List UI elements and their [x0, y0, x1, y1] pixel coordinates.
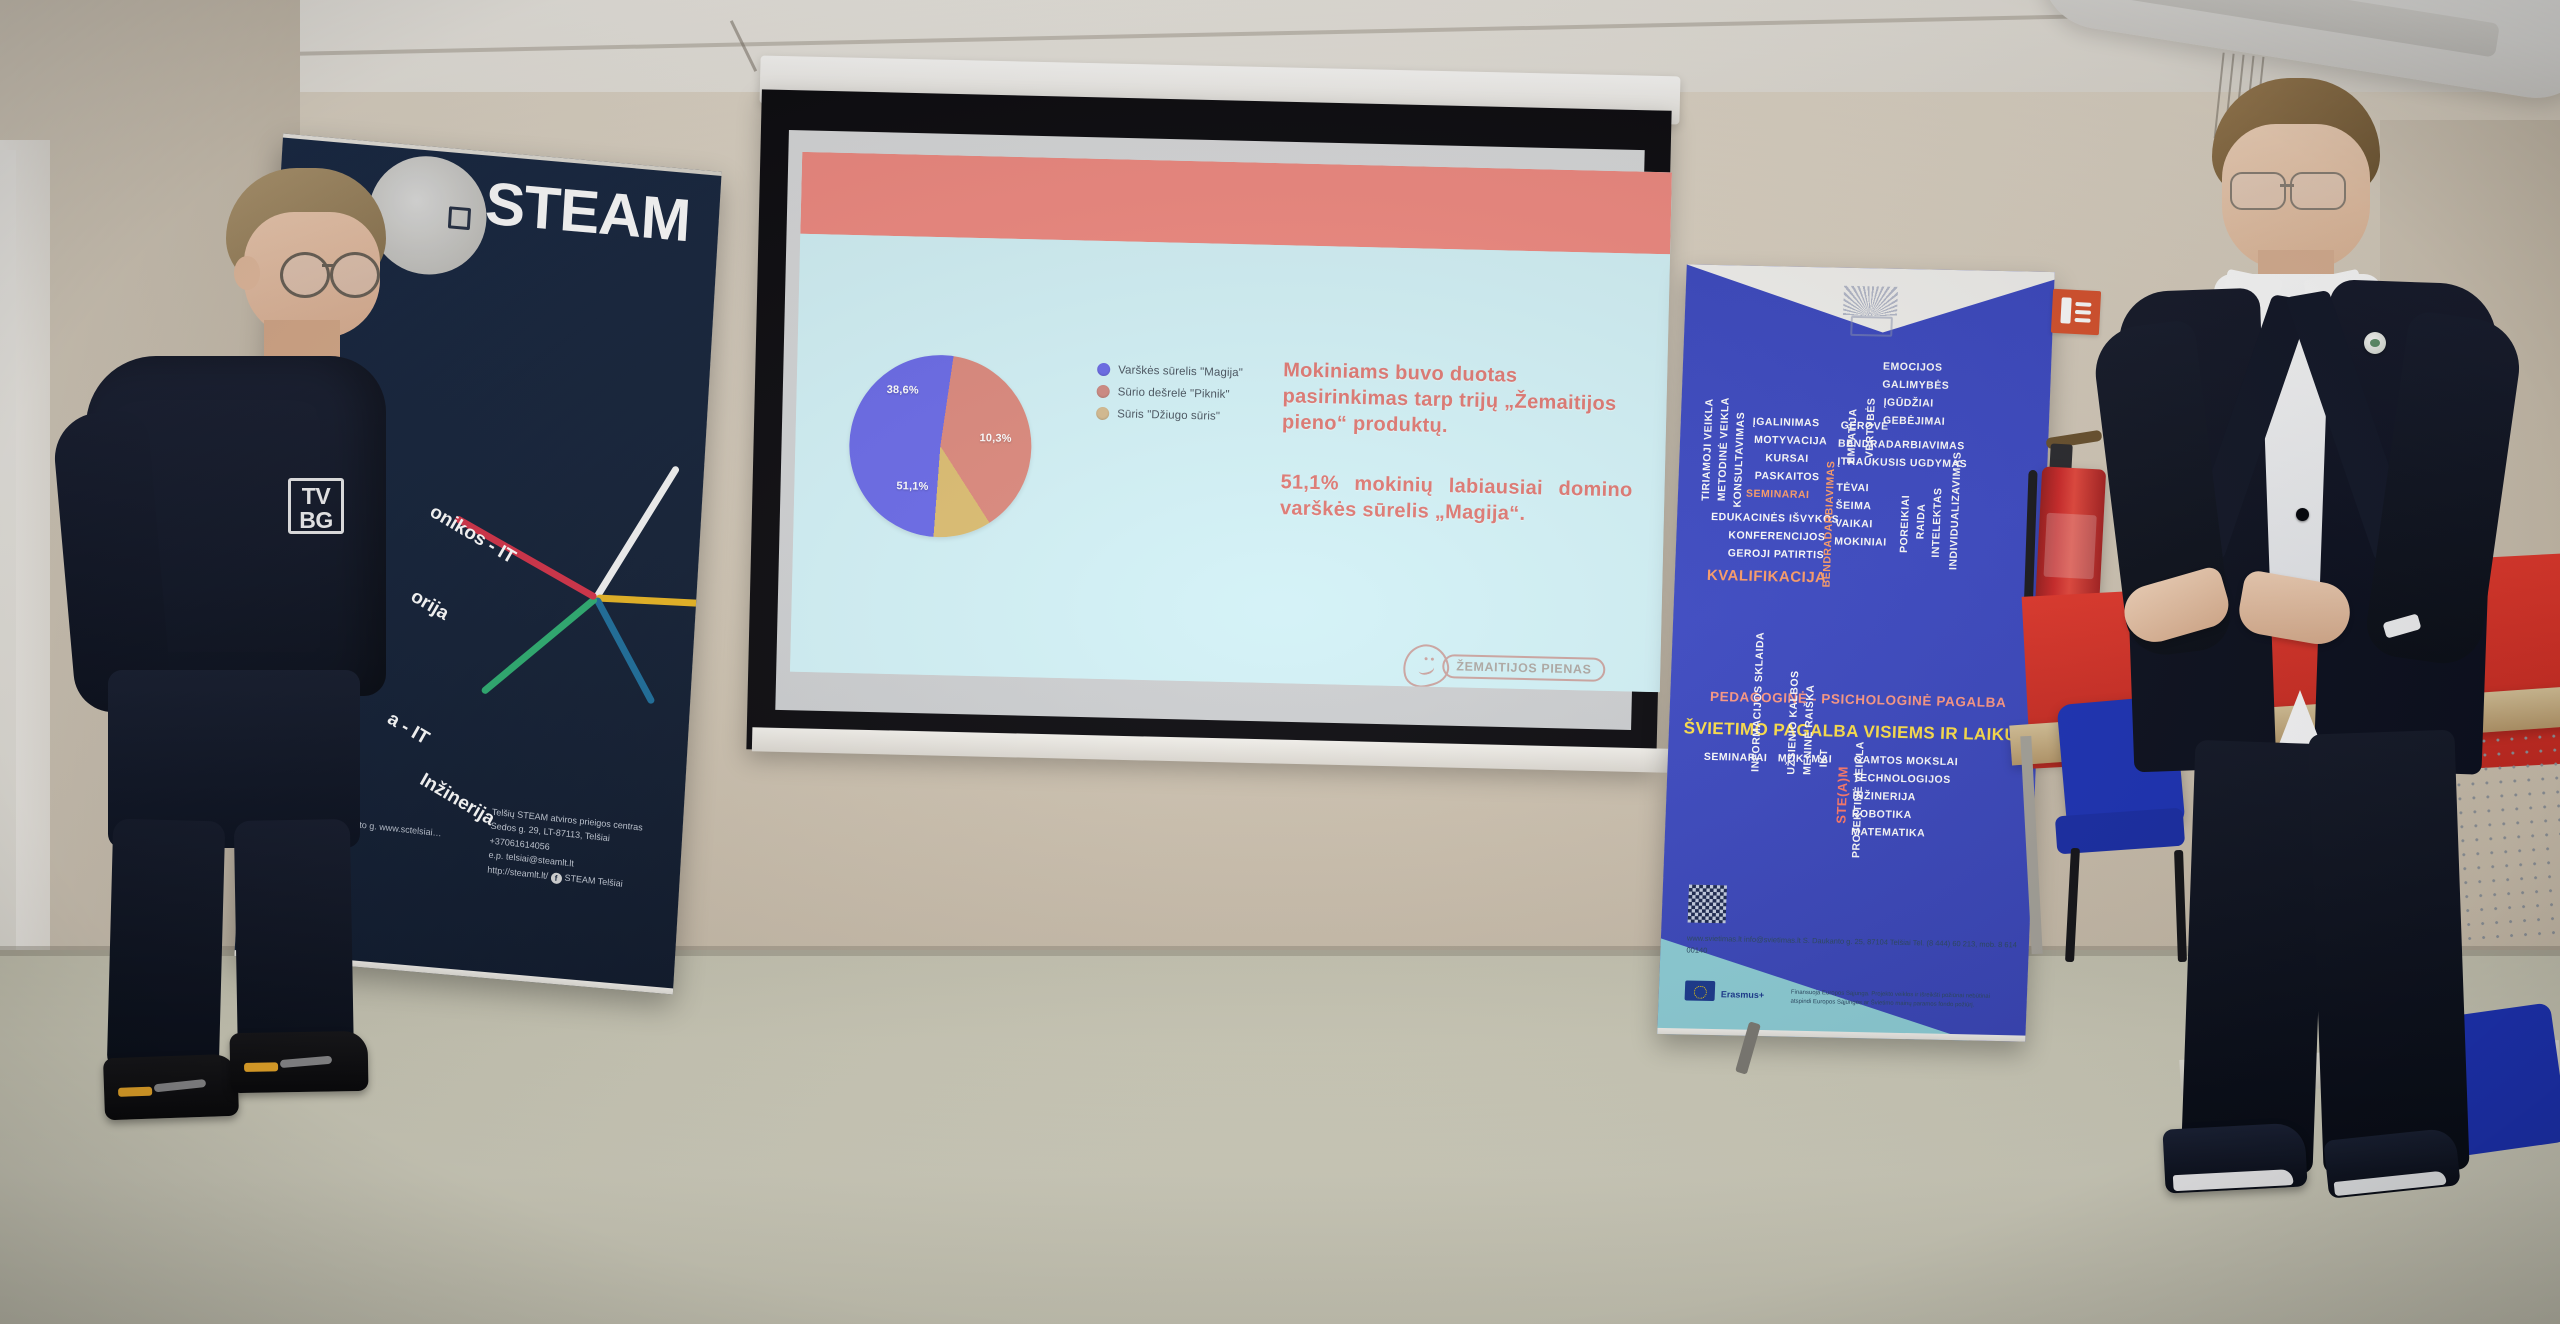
qr-code-icon[interactable]	[1688, 885, 1727, 924]
pie-label-piknik: 38,6%	[887, 384, 919, 397]
wc-tevai: TĖVAI	[1836, 482, 1869, 495]
wc-intelektas: INTELEKTAS	[1930, 487, 1945, 557]
wc-gamtos: GAMTOS MOKSLAI	[1854, 754, 1959, 768]
legend-swatch-dziugo	[1096, 407, 1109, 420]
wc-seminarai-top: SEMINARAI	[1746, 488, 1810, 501]
svietimo-pagalba-banner: TIRIAMOJI VEIKLA METODINĖ VEIKLA KONSULT…	[1657, 264, 2055, 1041]
spoke-blue	[593, 596, 656, 705]
wc-steam: STE(A)M	[1833, 766, 1850, 824]
right-trouser-leg	[2308, 730, 2469, 1175]
pie-label-magija: 51,1%	[896, 480, 928, 493]
legend-label-magija: Varškės sūrelis "Magija"	[1118, 364, 1243, 379]
facebook-icon: f	[550, 872, 562, 884]
banner-right-subline: PEDAGOGINĖ - PSICHOLOGINĖ PAGALBA	[1686, 688, 2031, 710]
zemaitijos-pienas-wordmark: ŽEMAITIJOS PIENAS	[1442, 654, 1606, 682]
wc-vaikai: VAIKAI	[1835, 518, 1873, 531]
pie-chart: 51,1% 38,6% 10,3%	[847, 353, 1033, 539]
wc-konsultavimas: KONSULTAVIMAS	[1731, 412, 1747, 508]
wc-tiriamoji: TIRIAMOJI VEIKLA	[1700, 398, 1716, 501]
legend-item-dziugo: Sūris "Džiugo sūris"	[1096, 407, 1242, 423]
tvbg-chest-logo: TV BG	[288, 478, 344, 534]
erasmus-plus-label: Erasmus+	[1721, 989, 1765, 1000]
tvbg-logo-line1: TV	[291, 484, 341, 508]
wc-konferencijos: KONFERENCIJOS	[1728, 529, 1825, 543]
pie-label-dziugo: 10,3%	[979, 432, 1011, 445]
ear	[234, 256, 260, 290]
eyeglasses-bridge	[322, 264, 334, 267]
wc-mokiniai: MOKINIAI	[1834, 536, 1887, 549]
eu-flag-icon	[1685, 980, 1716, 1001]
right-sneaker	[229, 1031, 368, 1093]
slide-paragraph-2: 51,1% mokinių labiausiai domino varškės …	[1280, 469, 1633, 529]
eyeglasses-bridge	[2280, 184, 2294, 187]
student-presenter-left: TV BG	[48, 160, 508, 1160]
wc-gebejimai: GEBĖJIMAI	[1883, 415, 1946, 428]
door-opening[interactable]	[0, 150, 16, 990]
banner-left-contact-right: Telšių STEAM atviros prieigos centras Se…	[487, 805, 643, 893]
student-presenter-right	[2118, 78, 2538, 1238]
right-sneaker	[2323, 1127, 2460, 1198]
wc-motyvacija: MOTYVACIJA	[1754, 434, 1828, 448]
fire-extinguisher-sign-icon	[2051, 289, 2101, 335]
wc-galimybes: GALIMYBĖS	[1882, 379, 1949, 392]
banner-right-contact: www.svietimas.lt info@svietimas.lt S. Da…	[1686, 932, 2029, 964]
left-sneaker	[2162, 1122, 2307, 1193]
jacket-button	[2296, 508, 2309, 521]
wc-seima: ŠEIMA	[1835, 500, 1871, 513]
eyeglasses-icon	[2290, 172, 2346, 210]
wc-technologijos: TECHNOLOGIJOS	[1853, 772, 1951, 786]
wc-raida: RAIDA	[1914, 503, 1927, 539]
steam-wordmark: STEAM	[484, 173, 692, 251]
eyeglasses-icon	[330, 252, 380, 298]
left-trouser-leg	[2181, 740, 2328, 1174]
slide-paragraph-1: Mokiniams buvo duotas pasirinkimas tarp …	[1282, 357, 1636, 443]
wc-igalinimas: ĮGALINIMAS	[1753, 416, 1820, 429]
wc-igudziai: ĮGŪDŽIAI	[1883, 397, 1934, 410]
spoke-yellow	[596, 594, 700, 606]
zemaitijos-pienas-logo: ŽEMAITIJOS PIENAS	[1402, 644, 1606, 691]
pie-chart-slices	[847, 353, 1033, 539]
slide-text-block: Mokiniams buvo duotas pasirinkimas tarp …	[1280, 357, 1636, 529]
left-sneaker	[103, 1054, 239, 1121]
wc-paskaitos: PASKAITOS	[1754, 470, 1819, 483]
tvbg-logo-line2: BG	[291, 508, 341, 532]
wc-emocijos: EMOCIJOS	[1883, 361, 1943, 374]
spoke-white	[593, 465, 680, 600]
projected-slide[interactable]: 51,1% 38,6% 10,3% Varškės sūrelis "Magij…	[790, 152, 1672, 692]
legend-item-magija: Varškės sūrelis "Magija"	[1097, 363, 1243, 379]
social-handle: STEAM Telšiai	[564, 872, 623, 888]
milk-drop-icon	[1398, 640, 1453, 692]
legend-swatch-piknik	[1097, 385, 1110, 398]
banner-right-headline: ŠVIETIMO PAGALBA VISIEMS IR LAIKUI	[1677, 718, 2030, 745]
wc-projektine-veikla: PROJEKTINĖ VEIKLA	[1850, 741, 1866, 858]
presentation-room-photo: 51,1% 38,6% 10,3% Varškės sūrelis "Magij…	[0, 0, 2560, 1324]
lapel-pin-icon	[2364, 332, 2386, 354]
wc-itraukusis: ĮTRAUKUSIS UGDYMAS	[1837, 456, 1967, 471]
wc-poreikiai: POREIKIAI	[1898, 495, 1912, 553]
left-leg	[107, 819, 226, 1074]
wc-kvalifikacija: KVALIFIKACIJA	[1707, 567, 1827, 586]
eyeglasses-icon	[2230, 172, 2286, 210]
eyeglasses-icon	[280, 252, 330, 298]
legend-label-dziugo: Sūris "Džiugo sūris"	[1117, 408, 1220, 422]
school-crest-icon	[1842, 286, 1898, 341]
wc-ikt: IKT	[1818, 749, 1831, 768]
legend-swatch-magija	[1097, 363, 1110, 376]
wc-metodine: METODINĖ VEIKLA	[1716, 397, 1732, 501]
wc-geroji: GEROJI PATIRTIS	[1728, 547, 1825, 561]
legend-item-piknik: Sūrio dešrelė "Piknik"	[1097, 385, 1243, 401]
wc-edukacines: EDUKACINĖS IŠVYKOS	[1711, 511, 1839, 526]
slide-body: 51,1% 38,6% 10,3% Varškės sūrelis "Magij…	[790, 234, 1670, 692]
pie-chart-legend: Varškės sūrelis "Magija" Sūrio dešrelė "…	[1096, 363, 1243, 432]
wc-gerove: GEROVĖ	[1840, 420, 1888, 433]
legend-label-piknik: Sūrio dešrelė "Piknik"	[1118, 386, 1230, 401]
wc-kursai: KURSAI	[1765, 452, 1809, 465]
